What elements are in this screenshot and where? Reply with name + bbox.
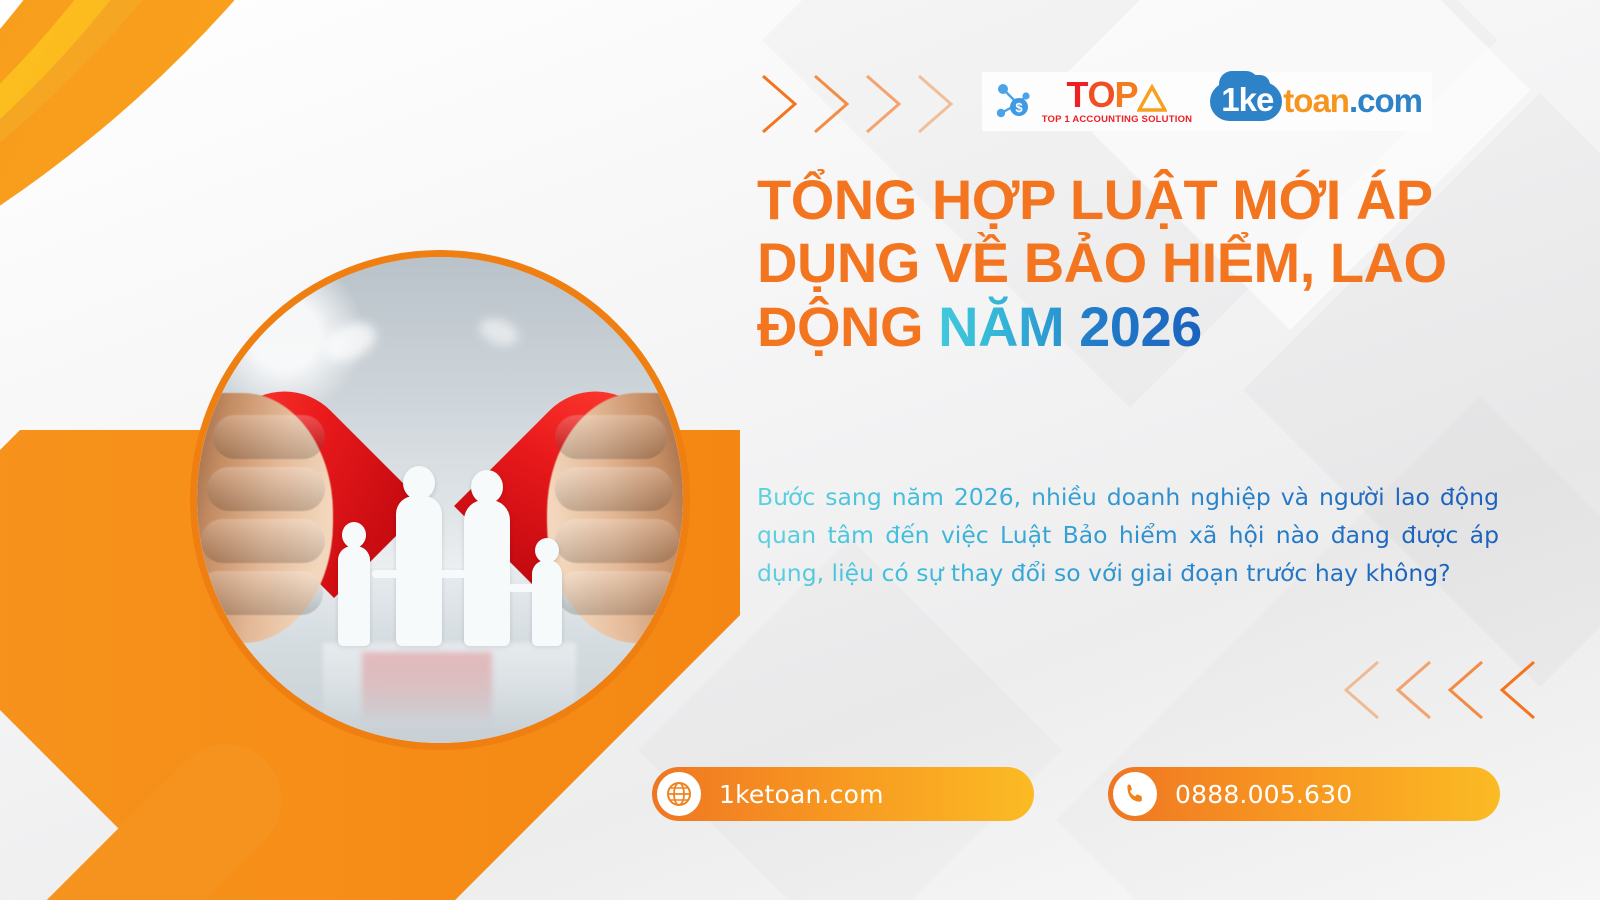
phone-pill[interactable]: 0888.005.630 xyxy=(1108,767,1500,821)
chevron-right-icon xyxy=(757,72,801,136)
topa-letter-t: T xyxy=(1066,78,1087,112)
title-line-2: DỤNG VỀ BẢO HIỂM, LAO xyxy=(757,231,1502,294)
left-hand xyxy=(197,393,333,643)
topa-letter-o: O xyxy=(1087,78,1114,112)
chevron-left-icon xyxy=(1392,658,1436,722)
title-word-year: 2026 xyxy=(1079,295,1202,358)
cloud-badge-icon: 1ke xyxy=(1210,82,1282,121)
svg-text:$: $ xyxy=(1015,100,1023,115)
chevrons-right-decor xyxy=(757,72,957,136)
1ketoan-logo: 1ke toan .com xyxy=(1210,82,1422,121)
topa-logo: $ T O P TOP 1 ACCOUNTING SOLUT xyxy=(992,78,1193,125)
globe-icon xyxy=(657,772,701,816)
page-title: TỔNG HỢP LUẬT MỚI ÁP DỤNG VỀ BẢO HIỂM, L… xyxy=(757,168,1502,358)
1ketoan-suffix-text: .com xyxy=(1349,82,1422,120)
hero-photo xyxy=(190,250,690,750)
1ketoan-mid-text: toan xyxy=(1283,82,1349,120)
topa-network-icon: $ xyxy=(992,80,1036,124)
chevrons-left-decor xyxy=(1340,658,1540,722)
figure-arm-link xyxy=(508,584,548,592)
content-column: $ T O P TOP 1 ACCOUNTING SOLUT xyxy=(752,0,1512,900)
logo-lockup: $ T O P TOP 1 ACCOUNTING SOLUT xyxy=(982,72,1432,131)
1ke-badge-text: 1ke xyxy=(1221,83,1273,118)
topa-letter-p: P xyxy=(1114,78,1137,112)
figure-boy xyxy=(338,546,370,646)
topa-letter-a xyxy=(1137,78,1167,113)
figure-arm-link xyxy=(372,570,414,578)
topa-letters: T O P xyxy=(1066,78,1167,113)
title-word-nam: NĂM xyxy=(938,295,1064,358)
banner-canvas: $ T O P TOP 1 ACCOUNTING SOLUT xyxy=(0,0,1600,900)
right-hand xyxy=(547,393,683,643)
figure-girl xyxy=(532,560,562,646)
title-line-3: ĐỘNG NĂM 2026 xyxy=(757,295,1502,358)
figure-arm-link xyxy=(440,570,478,578)
hero-photo-inner xyxy=(197,257,683,743)
chevron-right-icon xyxy=(861,72,905,136)
chevron-right-icon xyxy=(809,72,853,136)
chevron-left-icon xyxy=(1444,658,1488,722)
photo-reflection-figures xyxy=(323,643,576,733)
topa-tagline: TOP 1 ACCOUNTING SOLUTION xyxy=(1042,114,1193,125)
title-word-dong: ĐỘNG xyxy=(757,295,923,358)
chevron-left-icon xyxy=(1496,658,1540,722)
website-label: 1ketoan.com xyxy=(719,780,884,809)
chevron-left-icon xyxy=(1340,658,1384,722)
phone-label: 0888.005.630 xyxy=(1175,780,1352,809)
topa-wordmark: T O P TOP 1 ACCOUNTING SOLUTION xyxy=(1042,78,1193,125)
lead-paragraph: Bước sang năm 2026, nhiều doanh nghiệp v… xyxy=(757,478,1499,592)
website-pill[interactable]: 1ketoan.com xyxy=(652,767,1034,821)
phone-icon xyxy=(1113,772,1157,816)
chevron-right-icon xyxy=(913,72,957,136)
title-line-1: TỔNG HỢP LUẬT MỚI ÁP xyxy=(757,168,1502,231)
